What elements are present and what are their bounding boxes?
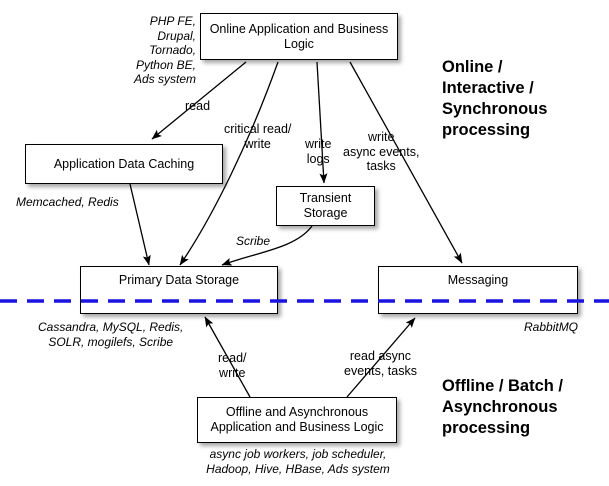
edge-label-read-async-events: read async events, tasks (344, 349, 417, 378)
sync-async-divider (0, 290, 609, 294)
node-messaging-label: Messaging (444, 273, 512, 288)
tech-note-online-logic: PHP FE, Drupal, Tornado, Python BE, Ads … (128, 14, 196, 87)
zone-title-online: Online / Interactive / Synchronous proce… (442, 57, 547, 141)
node-app-data-caching-label: Application Data Caching (50, 157, 198, 172)
node-primary-data-storage-label: Primary Data Storage (115, 273, 243, 288)
tech-note-offline-logic: async job workers, job scheduler, Hadoop… (190, 447, 406, 476)
tech-note-caching: Memcached, Redis (16, 195, 119, 210)
node-app-data-caching[interactable]: Application Data Caching (25, 144, 223, 184)
node-transient-storage-label: Transient Storage (277, 191, 374, 221)
architecture-diagram: Online Application and Business Logic Ap… (0, 0, 609, 486)
edge-label-write-logs: write logs (305, 137, 331, 166)
tech-note-scribe: Scribe (236, 234, 270, 249)
edge-label-read-write: read/ write (218, 351, 247, 380)
zone-title-offline: Offline / Batch / Asynchronous processin… (442, 376, 563, 439)
edge-label-read: read (185, 99, 210, 114)
node-transient-storage[interactable]: Transient Storage (276, 186, 375, 226)
node-offline-logic[interactable]: Offline and Asynchronous Application and… (197, 397, 397, 443)
edge-label-critical-read-write: critical read/ write (224, 122, 291, 151)
tech-note-primary-storage: Cassandra, MySQL, Redis, SOLR, mogilefs,… (38, 320, 183, 349)
tech-note-messaging: RabbitMQ (524, 320, 578, 335)
node-online-logic-label: Online Application and Business Logic (201, 22, 397, 52)
node-offline-logic-label: Offline and Asynchronous Application and… (198, 405, 396, 435)
edge-label-write-async-events: write async events, tasks (343, 130, 419, 174)
edge-caching-to-primary (130, 184, 149, 265)
node-online-logic[interactable]: Online Application and Business Logic (200, 13, 398, 60)
